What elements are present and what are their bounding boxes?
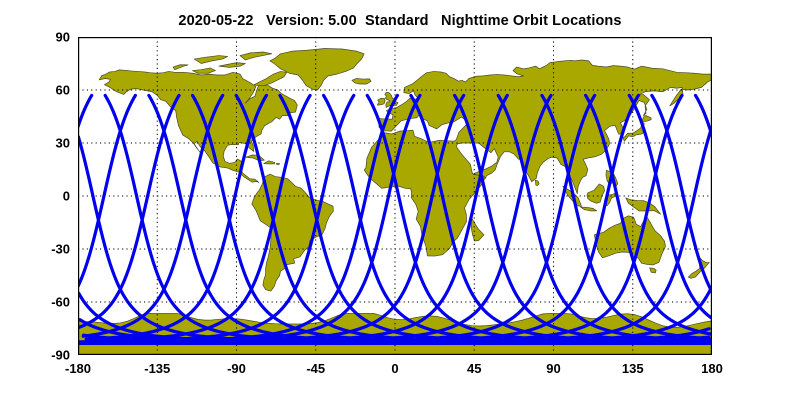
map-plot-area — [78, 37, 712, 355]
world-map-svg — [78, 37, 712, 355]
y-axis-tick-label: -60 — [16, 295, 70, 310]
x-axis-tick-label: 45 — [467, 361, 481, 376]
x-axis-tick-label: 135 — [622, 361, 644, 376]
landmass-polygon — [276, 163, 279, 164]
x-axis-tick-label: -180 — [65, 361, 91, 376]
page-title: 2020-05-22 Version: 5.00 Standard Nightt… — [0, 13, 800, 29]
x-axis-tick-label: -45 — [306, 361, 325, 376]
y-axis-tick-label: 90 — [16, 30, 70, 45]
x-axis-tick-label: -135 — [144, 361, 170, 376]
y-axis-tick-label: -90 — [16, 348, 70, 363]
y-axis-tick-label: 30 — [16, 136, 70, 151]
x-axis-tick-label: 0 — [391, 361, 398, 376]
y-axis-tick-label: 0 — [16, 189, 70, 204]
orbit-map-figure: 2020-05-22 Version: 5.00 Standard Nightt… — [0, 0, 800, 400]
x-axis-tick-label: 180 — [701, 361, 723, 376]
y-axis-tick-label: -30 — [16, 242, 70, 257]
y-axis-tick-label: 60 — [16, 83, 70, 98]
x-axis-tick-label: -90 — [227, 361, 246, 376]
x-axis-tick-label: 90 — [546, 361, 560, 376]
